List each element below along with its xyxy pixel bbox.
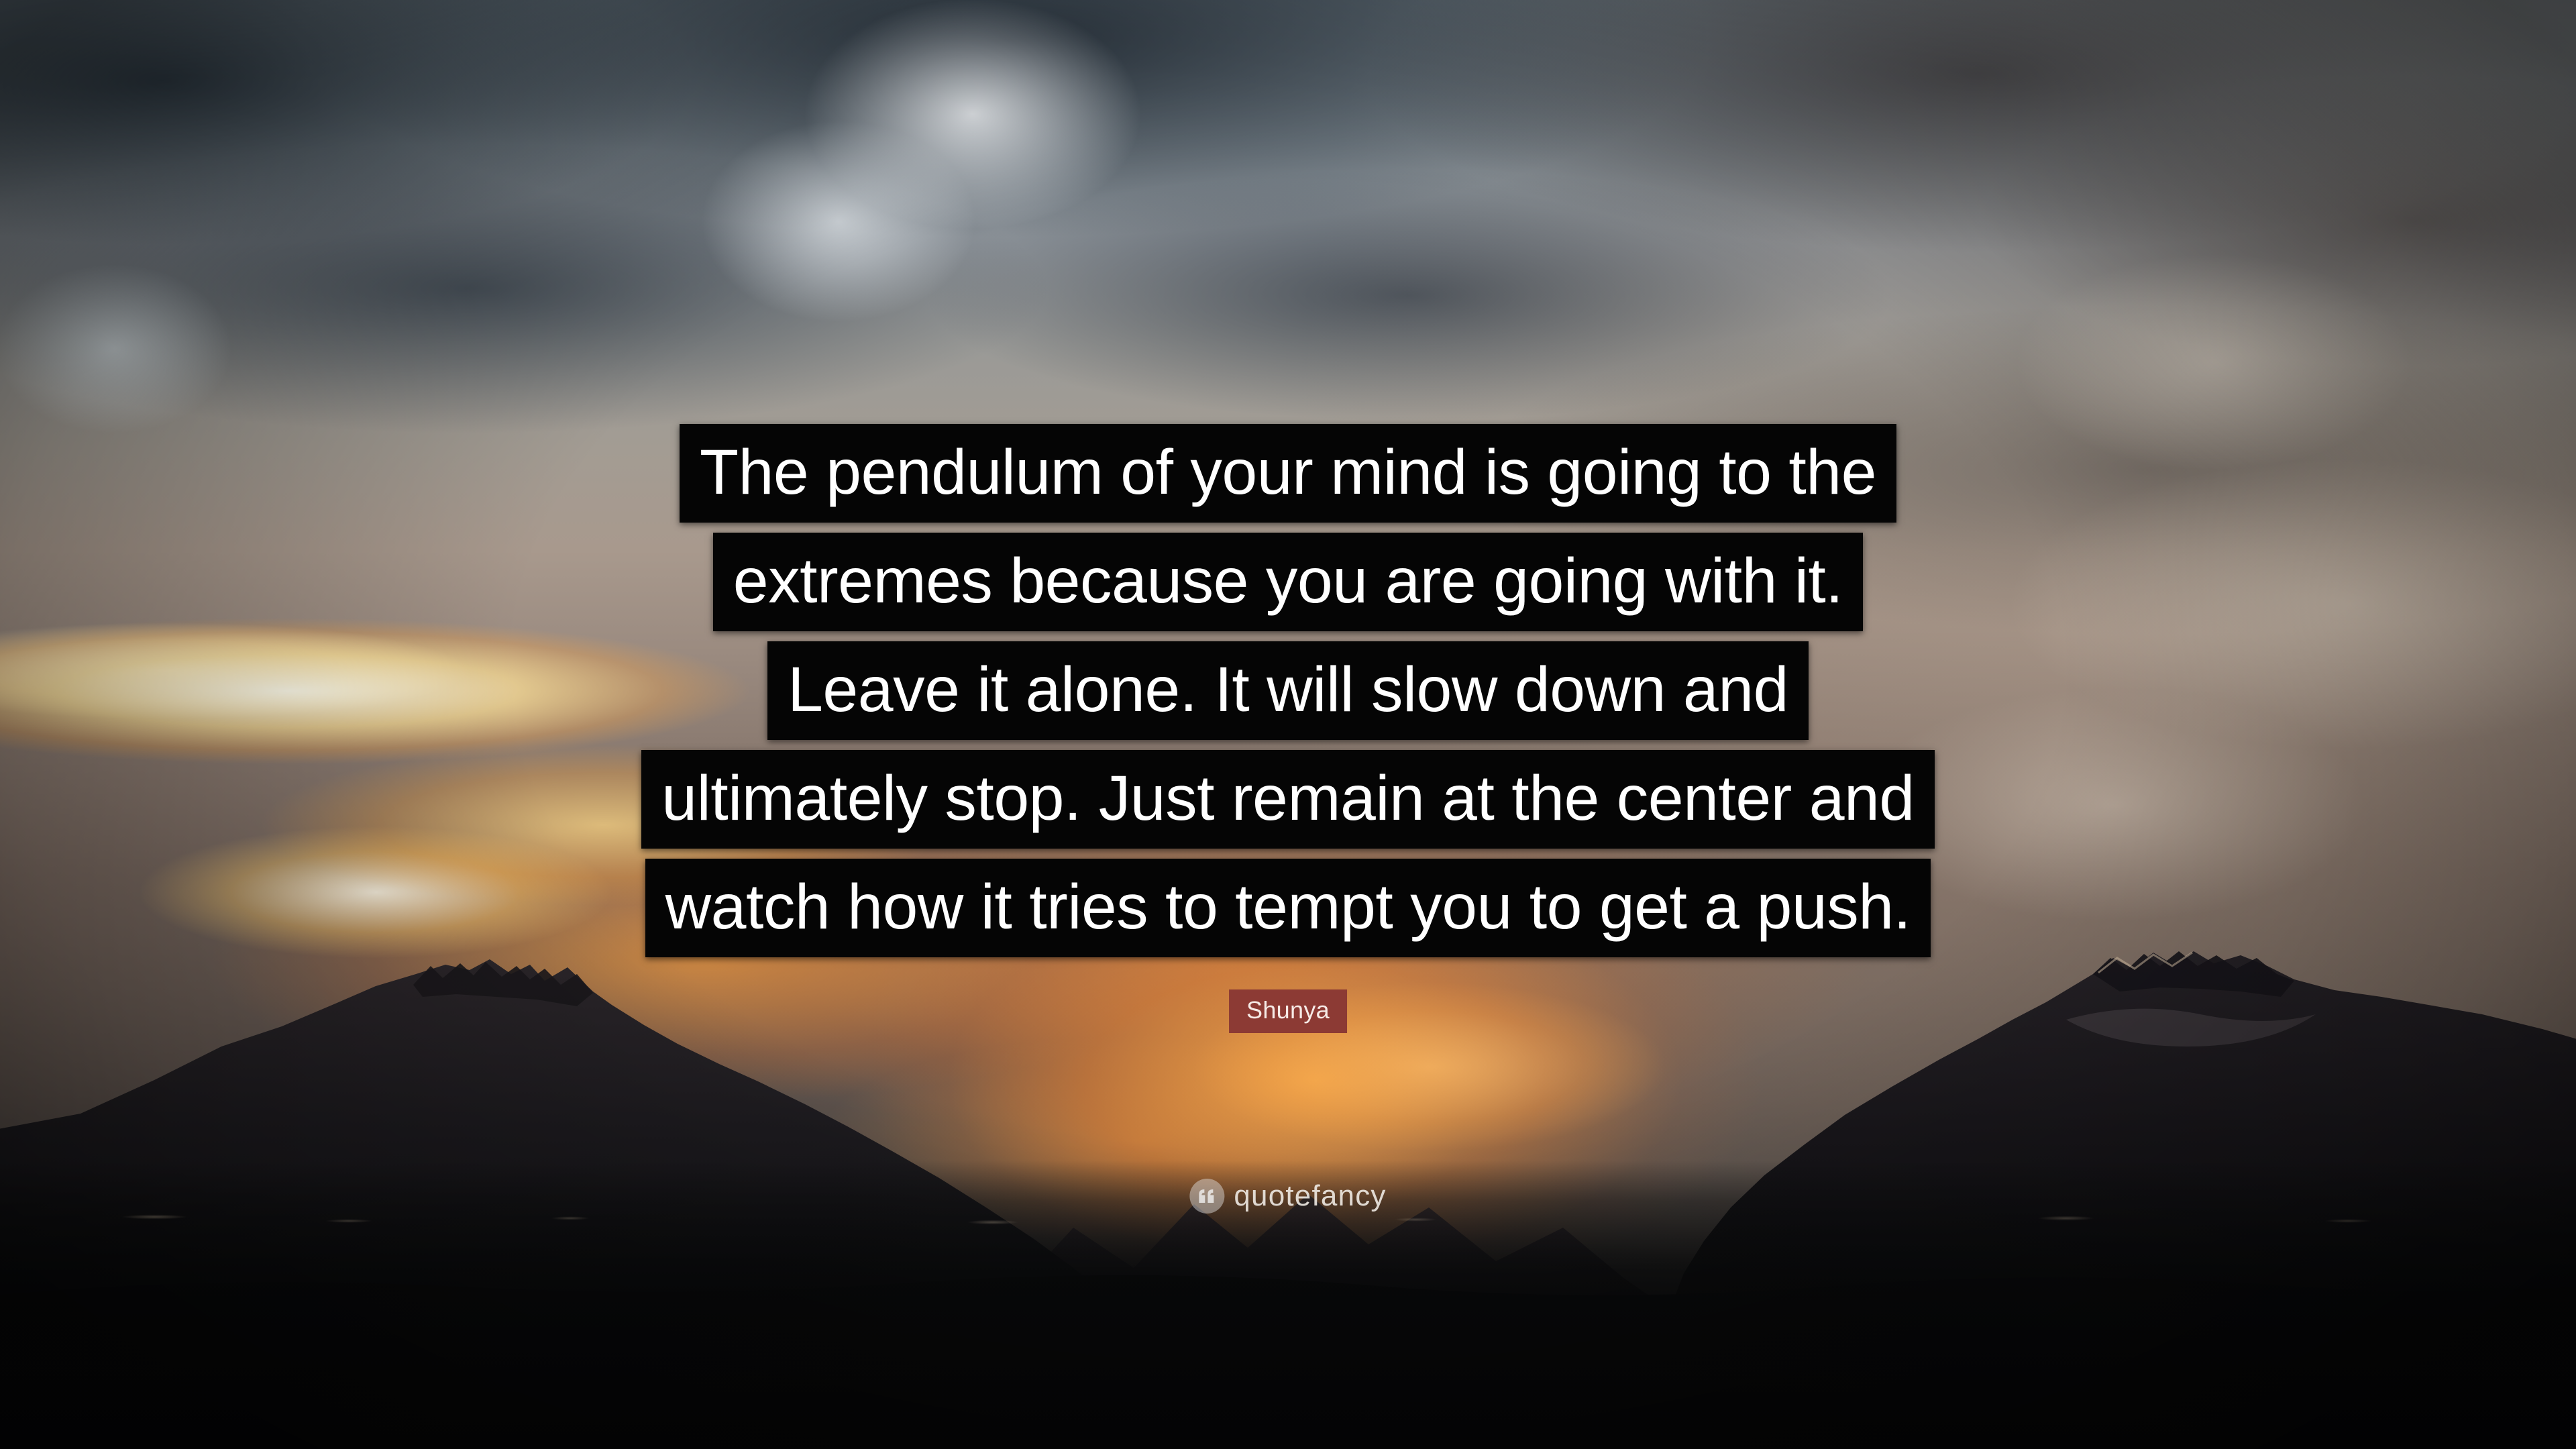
quotefancy-brand-label: quotefancy <box>1234 1181 1386 1211</box>
quote-line-1: The pendulum of your mind is going to th… <box>680 424 1896 523</box>
quote-text-block: The pendulum of your mind is going to th… <box>0 424 2576 957</box>
quote-line-2: extremes because you are going with it. <box>713 533 1863 631</box>
wallpaper-canvas: The pendulum of your mind is going to th… <box>0 0 2576 1449</box>
quote-line-3: Leave it alone. It will slow down and <box>767 641 1809 740</box>
author-badge: Shunya <box>1229 989 1347 1033</box>
quote-line-4: ultimately stop. Just remain at the cent… <box>641 750 1934 849</box>
quotefancy-watermark[interactable]: quotefancy <box>1189 1179 1386 1214</box>
quote-marks-icon <box>1189 1179 1224 1214</box>
quote-line-5: watch how it tries to tempt you to get a… <box>645 859 1931 957</box>
